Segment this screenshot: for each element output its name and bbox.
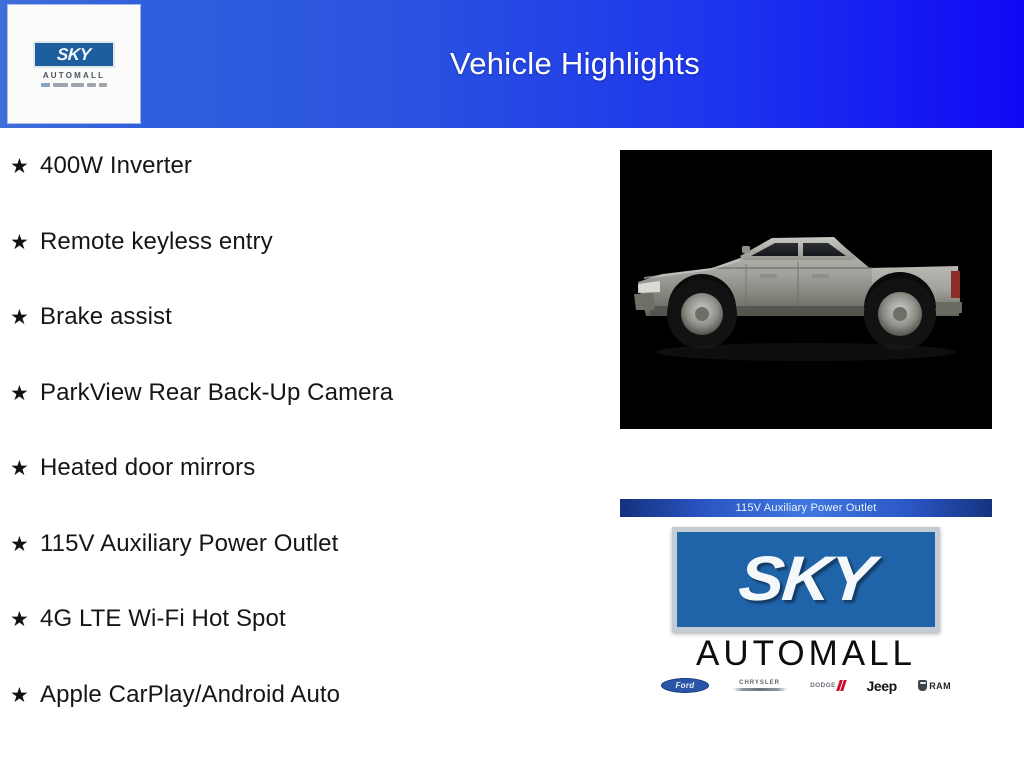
- feature-label: Brake assist: [40, 305, 172, 329]
- ram-mark-mini-icon: [99, 83, 107, 87]
- dodge-logo-inner: DODGE: [810, 680, 845, 691]
- jeep-mark-mini-icon: [87, 83, 96, 87]
- star-icon: ★: [10, 609, 40, 630]
- list-item: ★ Remote keyless entry: [10, 230, 600, 306]
- jeep-logo-label: Jeep: [866, 679, 896, 693]
- dodge-slashes-icon: [838, 680, 845, 691]
- feature-label: 4G LTE Wi-Fi Hot Spot: [40, 607, 286, 631]
- list-item: ★ Apple CarPlay/Android Auto: [10, 683, 600, 759]
- feature-label: Remote keyless entry: [40, 230, 273, 254]
- ram-logo-icon: RAM: [918, 678, 951, 693]
- star-icon: ★: [10, 232, 40, 253]
- dealer-logo-main[interactable]: SKY AUTOMALL Ford CHRYSLER DODGE Jeep: [620, 519, 992, 699]
- sky-plate-label: SKY: [57, 46, 92, 63]
- list-item: ★ 400W Inverter: [10, 154, 600, 230]
- ram-logo-inner: RAM: [918, 680, 951, 691]
- star-icon: ★: [10, 307, 40, 328]
- ford-logo-label: Ford: [661, 678, 709, 693]
- vehicle-highlights-slide: Vehicle Highlights SKY AUTOMALL ★ 400W I…: [0, 0, 1024, 768]
- dealer-logo-header[interactable]: SKY AUTOMALL: [8, 5, 140, 123]
- brand-logo-row: Ford CHRYSLER DODGE Jeep RAM: [661, 678, 951, 693]
- list-item: ★ Brake assist: [10, 305, 600, 381]
- ford-mark-mini-icon: [41, 83, 50, 87]
- ford-logo-icon: Ford: [661, 678, 709, 693]
- feature-label: Heated door mirrors: [40, 456, 255, 480]
- automall-label-header: AUTOMALL: [43, 72, 105, 80]
- automall-wordmark: AUTOMALL: [696, 636, 916, 671]
- feature-photo-caption-bar: 115V Auxiliary Power Outlet: [620, 499, 992, 517]
- brand-strip-header: [41, 83, 107, 87]
- list-item: ★ 115V Auxiliary Power Outlet: [10, 532, 600, 608]
- page-title: Vehicle Highlights: [160, 0, 990, 128]
- chrysler-mark-mini-icon: [53, 83, 68, 87]
- feature-label: 400W Inverter: [40, 154, 192, 178]
- ram-logo-label: RAM: [929, 681, 951, 691]
- vehicle-photo[interactable]: [620, 150, 992, 429]
- vehicle-features-list: ★ 400W Inverter ★ Remote keyless entry ★…: [0, 128, 600, 768]
- sky-sign-label: SKY: [737, 548, 876, 611]
- header-bar: Vehicle Highlights: [0, 0, 1024, 128]
- chrysler-logo-inner: CHRYSLER: [731, 679, 789, 693]
- list-item: ★ Heated door mirrors: [10, 456, 600, 532]
- feature-label: 115V Auxiliary Power Outlet: [40, 532, 338, 556]
- star-icon: ★: [10, 383, 40, 404]
- list-item: ★ ParkView Rear Back-Up Camera: [10, 381, 600, 457]
- star-icon: ★: [10, 458, 40, 479]
- dodge-logo-label: DODGE: [810, 682, 836, 689]
- dodge-logo-icon: DODGE: [810, 678, 845, 693]
- feature-label: ParkView Rear Back-Up Camera: [40, 381, 393, 405]
- chrysler-wings-icon: [733, 688, 787, 691]
- star-icon: ★: [10, 685, 40, 706]
- star-icon: ★: [10, 156, 40, 177]
- sky-plate-icon: SKY: [33, 41, 115, 68]
- feature-label: Apple CarPlay/Android Auto: [40, 683, 340, 707]
- dealer-logo-header-inner: SKY AUTOMALL: [26, 41, 122, 87]
- ram-badge-icon: [918, 680, 927, 691]
- dodge-mark-mini-icon: [71, 83, 84, 87]
- list-item: ★ 4G LTE Wi-Fi Hot Spot: [10, 607, 600, 683]
- chrysler-logo-icon: CHRYSLER: [731, 678, 789, 693]
- pickup-truck-illustration: [620, 150, 992, 429]
- star-icon: ★: [10, 534, 40, 555]
- jeep-logo-icon: Jeep: [866, 678, 896, 693]
- feature-photo-caption-text: 115V Auxiliary Power Outlet: [736, 502, 877, 514]
- chrysler-logo-label: CHRYSLER: [739, 680, 780, 687]
- sky-sign-icon: SKY: [672, 527, 940, 632]
